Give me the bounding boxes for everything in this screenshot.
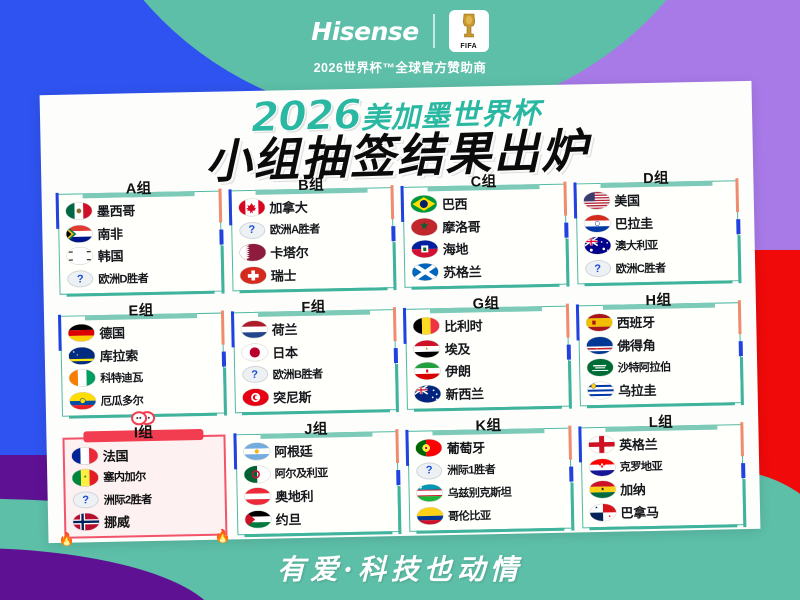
accent-edge-bottom	[67, 291, 215, 297]
team-row: ?欧洲D胜者	[67, 266, 217, 290]
group-box: 巴西 摩洛哥 海地 苏格兰	[402, 184, 566, 288]
flag-morocco-icon	[411, 218, 437, 236]
team-row: 乌拉圭	[587, 377, 737, 401]
team-name: 加拿大	[269, 197, 307, 217]
team-row: 瑞士	[240, 262, 390, 286]
accent-edge-mid-right	[564, 222, 568, 238]
accent-edge-top-right	[738, 300, 742, 334]
flag-japan-icon	[241, 343, 267, 361]
flag-panama-icon	[589, 504, 615, 522]
sponsor-text: 2026世界杯™全球官方赞助商	[0, 57, 800, 76]
team-row: 葡萄牙	[416, 435, 566, 459]
team-row: 新西兰	[414, 381, 564, 405]
team-name: 比利时	[444, 315, 482, 335]
accent-edge-bottom	[587, 402, 735, 408]
accent-edge-bottom	[239, 287, 387, 293]
team-row: 澳大利亚	[584, 233, 734, 257]
group-label: G组	[473, 296, 500, 313]
group-title: K组	[467, 414, 509, 436]
group-box: 德国 库拉索 科特迪瓦 厄瓜多尔	[60, 313, 224, 417]
group-label: K组	[475, 418, 501, 435]
poster-root: Hisense FIFA 2026世界杯™全球官方赞助商 2026美加墨世界杯 …	[0, 0, 800, 600]
group-card[interactable]: C组 巴西 摩洛哥 海地 苏格兰	[402, 169, 567, 288]
team-row: 巴西	[411, 191, 561, 215]
group-title: C组	[462, 170, 504, 192]
team-name: 欧洲C胜者	[616, 259, 666, 276]
group-label: I组	[134, 425, 154, 441]
brand-row: Hisense FIFA	[0, 10, 800, 52]
team-name: 阿尔及利亚	[275, 465, 328, 482]
team-name: 乌拉圭	[618, 380, 656, 400]
flag-portugal-icon	[416, 439, 442, 457]
team-row: 伊朗	[414, 358, 564, 382]
team-name: 突尼斯	[273, 387, 311, 407]
accent-edge-left	[400, 186, 404, 222]
accent-edge-bottom-right	[395, 365, 399, 413]
team-row: 墨西哥	[66, 198, 216, 222]
accent-edge-left	[573, 182, 577, 218]
accent-edge-top-right	[565, 304, 569, 338]
team-name: 加纳	[620, 479, 646, 499]
flag-south-africa-icon	[66, 225, 92, 243]
results-card: 2026美加墨世界杯 小组抽签结果出炉 A组 墨西哥 南非	[40, 81, 761, 543]
accent-edge-top-right	[218, 189, 222, 223]
team-name: 巴拿马	[620, 502, 658, 522]
flag-ivory-coast-icon	[69, 370, 95, 388]
group-card[interactable]: E组 德国 库拉索 科特迪瓦 厄瓜多尔	[60, 298, 225, 417]
team-row: 南非	[66, 220, 216, 244]
team-row: 荷兰	[241, 316, 391, 340]
flag-scotland-icon	[412, 263, 438, 281]
flag-colombia-icon	[417, 507, 443, 525]
flag-new-zealand-icon	[414, 385, 440, 403]
group-label: L组	[649, 415, 674, 431]
group-label: J组	[304, 421, 328, 437]
team-name: 日本	[272, 342, 298, 362]
accent-edge-top-right	[393, 307, 397, 341]
group-card[interactable]: L组 英格兰 克罗地亚 加纳 巴拿马	[580, 409, 745, 528]
team-name: 欧洲A胜者	[270, 221, 320, 238]
flag-iran-icon	[414, 363, 440, 381]
accent-edge-top-right	[395, 429, 399, 463]
fifa-wordmark: FIFA	[460, 43, 477, 50]
team-row: 克罗地亚	[588, 454, 738, 478]
team-row: 库拉索	[69, 342, 219, 366]
group-title: F组	[293, 295, 334, 317]
team-name: 奥地利	[275, 486, 313, 506]
accent-edge-top-right	[740, 422, 744, 456]
team-name: 西班牙	[617, 312, 655, 332]
flag-haiti-icon	[412, 241, 438, 259]
team-name: 卡塔尔	[270, 242, 308, 262]
team-name: 库拉索	[100, 345, 138, 365]
group-card[interactable]: K组 葡萄牙 ?洲际1胜者 乌兹别克斯坦 哥伦比亚	[407, 413, 572, 532]
team-row: 英格兰	[588, 431, 738, 455]
team-name: 厄瓜多尔	[101, 392, 144, 409]
fire-emoji-icon: 🔥	[215, 529, 231, 542]
fire-emoji-icon-left: 🔥	[58, 533, 74, 546]
flag-argentina-icon	[243, 443, 269, 461]
group-title: A组	[117, 177, 159, 199]
group-label: B组	[298, 177, 324, 194]
team-name: 德国	[99, 322, 125, 342]
team-row: 奥地利	[244, 484, 394, 508]
group-box: 葡萄牙 ?洲际1胜者 乌兹别克斯坦 哥伦比亚	[407, 428, 571, 532]
flag-england-icon	[588, 436, 614, 454]
accent-edge-left	[230, 311, 234, 347]
question-mark-icon: ?	[242, 366, 268, 384]
group-title: E组	[120, 299, 162, 321]
flag-curacao-icon	[69, 347, 95, 365]
group-box: 美国 巴拉圭 澳大利亚 ?欧洲C胜者	[575, 180, 739, 284]
accent-edge-left	[56, 193, 60, 229]
group-title: D组	[635, 166, 677, 188]
flag-algeria-icon	[244, 465, 270, 483]
team-row: ?洲际2胜者	[73, 487, 221, 511]
team-name: 荷兰	[272, 319, 298, 339]
flag-mexico-icon	[66, 202, 92, 220]
group-label: D组	[643, 171, 669, 188]
group-box: 阿根廷 阿尔及利亚 奥地利 约旦	[235, 431, 399, 535]
accent-edge-mid-right	[569, 466, 573, 482]
accent-edge-bottom-right	[565, 239, 569, 287]
team-name: 乌兹别克斯坦	[447, 484, 511, 501]
poster-header: Hisense FIFA 2026世界杯™全球官方赞助商	[0, 10, 800, 76]
team-row: 比利时	[413, 313, 563, 337]
question-mark-icon: ?	[416, 462, 442, 480]
accent-edge-bottom	[589, 524, 737, 530]
question-mark-icon: ?	[585, 260, 611, 278]
flag-norway-icon	[73, 513, 99, 531]
flag-brazil-icon	[411, 195, 437, 213]
team-name: 阿根廷	[274, 441, 312, 461]
team-row: 厄瓜多尔	[70, 388, 220, 412]
hisense-logo: Hisense	[311, 17, 418, 46]
team-row: 哥伦比亚	[417, 503, 567, 527]
group-box: 墨西哥 南非 韩国 ?欧洲D胜者	[58, 191, 222, 295]
team-name: 欧洲D胜者	[98, 270, 148, 287]
accent-edge-left	[578, 426, 582, 462]
group-label: C组	[471, 174, 497, 191]
accent-edge-bottom-right	[740, 358, 744, 406]
team-row: 佛得角	[586, 332, 736, 356]
flag-france-icon	[72, 447, 98, 465]
accent-edge-left	[405, 430, 409, 466]
accent-edge-top-right	[568, 426, 572, 460]
flag-egypt-icon	[414, 340, 440, 358]
team-name: 洲际1胜者	[447, 461, 495, 478]
team-row: 巴拿马	[589, 499, 739, 523]
group-label: A组	[126, 181, 152, 198]
team-name: 约旦	[275, 509, 301, 529]
team-row: 突尼斯	[242, 384, 392, 408]
team-name: 澳大利亚	[615, 237, 658, 254]
accent-edge-bottom-right	[223, 368, 227, 416]
team-row: 挪威	[73, 509, 221, 533]
team-row: ?欧洲B胜者	[242, 362, 392, 386]
flag-croatia-icon	[588, 458, 614, 476]
accent-edge-mid-right	[391, 226, 395, 242]
team-name: 南非	[97, 223, 123, 243]
accent-edge-bottom	[244, 531, 392, 537]
group-box: 英格兰 克罗地亚 加纳 巴拿马	[580, 424, 744, 528]
team-name: 哥伦比亚	[448, 507, 491, 524]
team-name: 洲际2胜者	[104, 491, 152, 508]
team-name: 英格兰	[619, 434, 657, 454]
accent-edge-bottom-right	[220, 246, 224, 294]
team-name: 克罗地亚	[619, 458, 662, 475]
flag-austria-icon	[244, 488, 270, 506]
team-row: 日本	[241, 339, 391, 363]
question-mark-icon: ?	[73, 491, 99, 509]
team-row: 埃及	[414, 335, 564, 359]
team-row: 苏格兰	[412, 259, 562, 283]
footer-tagline: 有爱·科技也动情	[0, 548, 800, 588]
fifa-world-cup-trophy-icon	[461, 13, 477, 39]
team-name: 法国	[103, 445, 129, 465]
accent-edge-mid-right	[566, 344, 570, 360]
team-row: 德国	[68, 320, 218, 344]
flag-belgium-icon	[413, 317, 439, 335]
group-title: H组	[637, 288, 679, 310]
team-row: 法国	[72, 442, 220, 466]
flag-switzerland-icon	[240, 267, 266, 285]
flag-australia-icon	[584, 237, 610, 255]
accent-edge-mid-right	[396, 470, 400, 486]
team-row: ?欧洲C胜者	[584, 255, 734, 279]
group-label: F组	[301, 299, 326, 315]
team-name: 巴西	[442, 194, 468, 214]
flag-ecuador-icon	[70, 392, 96, 410]
group-box: 加拿大 ?欧洲A胜者 卡塔尔 瑞士	[230, 187, 394, 291]
team-row: 阿根廷	[243, 438, 393, 462]
group-card[interactable]: F组 荷兰 日本 ?欧洲B胜者 突尼斯	[232, 294, 397, 413]
team-name: 瑞士	[271, 265, 297, 285]
accent-edge-mid-right	[739, 341, 743, 357]
group-card[interactable]: A组 墨西哥 南非 韩国 ?欧洲D胜者	[57, 176, 222, 295]
accent-edge-bottom	[414, 406, 562, 412]
accent-edge-left	[58, 315, 62, 351]
accent-edge-mid-right	[394, 348, 398, 364]
team-name: 海地	[443, 239, 469, 259]
accent-edge-bottom-right	[570, 483, 574, 531]
accent-edge-bottom	[417, 528, 565, 534]
team-name: 新西兰	[445, 383, 483, 403]
team-name: 伊朗	[445, 361, 471, 381]
accent-edge-top-right	[220, 311, 224, 345]
accent-edge-mid-right	[221, 351, 225, 367]
flag-uzbekistan-icon	[416, 485, 442, 503]
team-name: 沙特阿拉伯	[617, 358, 670, 375]
accent-edge-left	[233, 433, 237, 469]
team-row: 巴拉圭	[584, 210, 734, 234]
group-card[interactable]: H组 西班牙 佛得角 沙特阿拉伯 乌拉圭	[577, 287, 742, 406]
team-row: 塞内加尔	[72, 465, 220, 489]
group-title: B组	[290, 173, 332, 195]
flag-senegal-icon	[72, 469, 98, 487]
team-name: 摩洛哥	[442, 216, 480, 236]
accent-edge-left	[228, 189, 232, 225]
accent-edge-bottom	[584, 280, 732, 286]
accent-edge-bottom-right	[393, 243, 397, 291]
group-title: J组	[296, 417, 336, 439]
team-row: 加纳	[589, 477, 739, 501]
team-row: 西班牙	[586, 309, 736, 333]
team-name: 苏格兰	[443, 261, 481, 281]
accent-edge-bottom-right	[568, 361, 572, 409]
flag-spain-icon	[586, 314, 612, 332]
team-name: 葡萄牙	[447, 437, 485, 457]
group-box: 荷兰 日本 ?欧洲B胜者 突尼斯	[232, 309, 396, 413]
accent-edge-top-right	[563, 182, 567, 216]
flag-qatar-icon	[239, 244, 265, 262]
group-card[interactable]: D组 美国 巴拉圭 澳大利亚 ?欧洲C胜者	[575, 165, 740, 284]
group-card-highlighted[interactable]: •• •• I组 🔥 🔥 法国 塞内加尔 ?洲际2胜者 挪威	[62, 420, 227, 539]
team-name: 美国	[614, 190, 640, 210]
accent-edge-bottom	[242, 409, 390, 415]
flag-usa-icon	[583, 192, 609, 210]
accent-edge-left	[575, 304, 579, 340]
team-row: 约旦	[244, 506, 394, 530]
flag-canada-icon	[238, 199, 264, 217]
team-row: ?欧洲A胜者	[239, 217, 389, 241]
group-box: 🔥 🔥 法国 塞内加尔 ?洲际2胜者 挪威	[62, 435, 226, 539]
team-row: 美国	[583, 187, 733, 211]
group-title: L组	[641, 410, 682, 432]
team-row: 海地	[412, 236, 562, 260]
team-name: 塞内加尔	[103, 469, 146, 486]
accent-edge-bottom-right	[398, 487, 402, 535]
accent-edge-bottom-right	[738, 236, 742, 284]
accent-edge-top-right	[735, 178, 739, 212]
divider	[433, 14, 435, 48]
flag-netherlands-icon	[241, 321, 267, 339]
flag-uruguay-icon	[587, 382, 613, 400]
question-mark-icon: ?	[239, 221, 265, 239]
team-row: 卡塔尔	[239, 240, 389, 264]
accent-edge-bottom-right	[742, 480, 746, 528]
team-name: 巴拉圭	[615, 213, 653, 233]
team-name: 佛得角	[617, 335, 655, 355]
accent-edge-mid-right	[219, 229, 223, 245]
flag-paraguay-icon	[584, 214, 610, 232]
team-row: 乌兹别克斯坦	[416, 480, 566, 504]
team-row: 摩洛哥	[411, 213, 561, 237]
team-name: 挪威	[104, 512, 130, 532]
question-mark-icon: ?	[67, 270, 93, 288]
group-title: •• •• I组	[126, 421, 162, 443]
groups-grid: A组 墨西哥 南非 韩国 ?欧洲D胜者 B组	[57, 165, 744, 539]
group-card[interactable]: J组 阿根廷 阿尔及利亚 奥地利 约旦	[235, 416, 400, 535]
group-box: 比利时 埃及 伊朗 新西兰	[405, 306, 569, 410]
accent-edge-mid-right	[736, 219, 740, 235]
flag-jordan-icon	[244, 511, 270, 529]
flag-tunisia-icon	[242, 389, 268, 407]
group-title: G组	[464, 292, 507, 314]
team-row: ?洲际1胜者	[416, 457, 566, 481]
group-label: H组	[645, 293, 671, 310]
team-name: 墨西哥	[97, 200, 135, 220]
flag-germany-icon	[68, 324, 94, 342]
group-card[interactable]: G组 比利时 埃及 伊朗 新西兰	[405, 291, 570, 410]
fifa-badge: FIFA	[449, 10, 489, 52]
accent-edge-top-right	[390, 185, 394, 219]
team-row: 沙特阿拉伯	[586, 355, 736, 379]
flag-ghana-icon	[589, 481, 615, 499]
group-label: E组	[128, 303, 153, 320]
team-row: 韩国	[67, 243, 217, 267]
title-block: 2026美加墨世界杯 小组抽签结果出炉	[55, 84, 737, 179]
team-row: 加拿大	[238, 194, 388, 218]
team-row: 科特迪瓦	[69, 365, 219, 389]
group-card[interactable]: B组 加拿大 ?欧洲A胜者 卡塔尔 瑞士	[230, 172, 395, 291]
group-box: 西班牙 佛得角 沙特阿拉伯 乌拉圭	[577, 302, 741, 406]
flag-saudi-arabia-icon	[586, 359, 612, 377]
team-row: 阿尔及利亚	[244, 461, 394, 485]
team-name: 科特迪瓦	[100, 369, 143, 386]
accent-edge-bottom	[412, 284, 560, 290]
accent-edge-mid-right	[741, 463, 745, 479]
flag-cape-verde-icon	[586, 336, 612, 354]
team-name: 韩国	[98, 246, 124, 266]
accent-edge-left	[403, 308, 407, 344]
team-name: 欧洲B胜者	[273, 365, 323, 382]
flag-south-korea-icon	[67, 248, 93, 266]
team-name: 埃及	[445, 338, 471, 358]
